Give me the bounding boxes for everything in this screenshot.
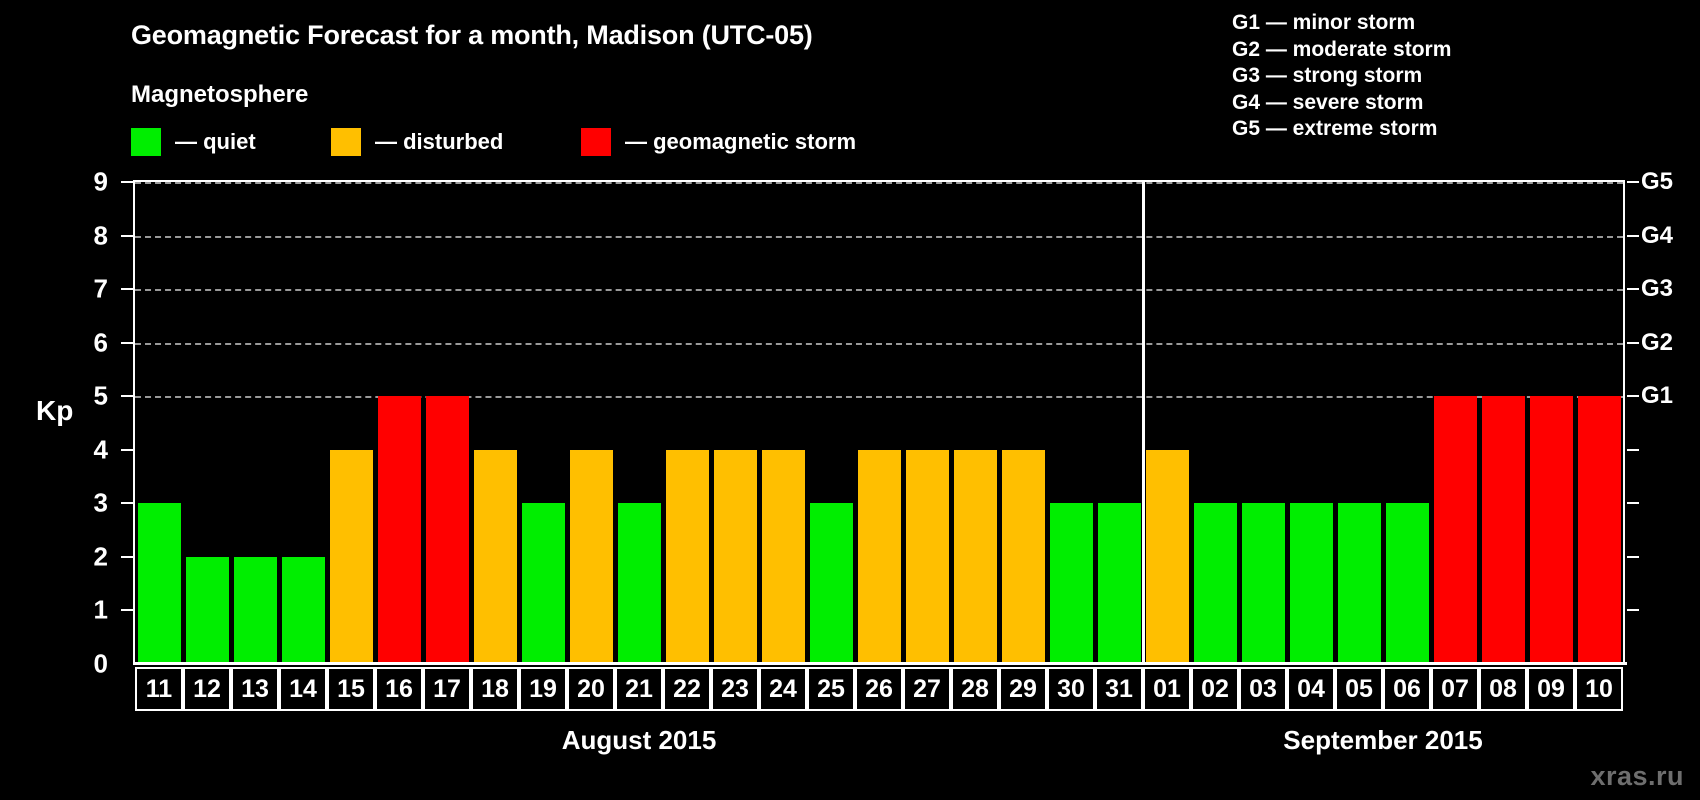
geomagnetic-forecast-chart: Geomagnetic Forecast for a month, Madiso…: [0, 0, 1700, 800]
gridline-kp-6: [135, 343, 1623, 345]
day-label-31[interactable]: 31: [1095, 667, 1143, 711]
storm-scale-line-g3: G3 — strong storm: [1232, 63, 1451, 90]
bar-day-02[interactable]: [1194, 503, 1237, 664]
day-label-24[interactable]: 24: [759, 667, 807, 711]
day-label-25[interactable]: 25: [807, 667, 855, 711]
day-label-29[interactable]: 29: [999, 667, 1047, 711]
bar-day-24[interactable]: [762, 450, 805, 664]
plot-area: [135, 182, 1623, 664]
y-tick-label-2: 2: [68, 541, 108, 572]
day-label-11[interactable]: 11: [135, 667, 183, 711]
day-label-07[interactable]: 07: [1431, 667, 1479, 711]
bar-day-31[interactable]: [1098, 503, 1141, 664]
day-label-30[interactable]: 30: [1047, 667, 1095, 711]
day-label-09[interactable]: 09: [1527, 667, 1575, 711]
bar-day-13[interactable]: [234, 557, 277, 664]
day-label-03[interactable]: 03: [1239, 667, 1287, 711]
bar-day-26[interactable]: [858, 450, 901, 664]
bar-day-10[interactable]: [1578, 396, 1621, 664]
day-label-10[interactable]: 10: [1575, 667, 1623, 711]
month-caption-september: September 2015: [1283, 725, 1482, 756]
gridline-kp-7: [135, 289, 1623, 291]
g-tick-label-g1: G1: [1641, 382, 1673, 410]
y-tick-mark-7: [121, 288, 133, 290]
g-tick-mark-g2: [1627, 342, 1639, 344]
legend-item-geomagnetic-storm: — geomagnetic storm: [581, 127, 856, 157]
watermark: xras.ru: [1590, 761, 1684, 792]
g-tick-label-g3: G3: [1641, 275, 1673, 303]
orange-square-icon: [331, 128, 361, 156]
legend-item-quiet: — quiet: [131, 127, 256, 157]
bar-day-14[interactable]: [282, 557, 325, 664]
legend-label: — quiet: [175, 129, 256, 155]
red-square-icon: [581, 128, 611, 156]
g-minor-tick-mark-2: [1627, 556, 1639, 558]
g-tick-label-g2: G2: [1641, 329, 1673, 357]
y-tick-label-6: 6: [68, 327, 108, 358]
bar-day-22[interactable]: [666, 450, 709, 664]
bar-day-06[interactable]: [1386, 503, 1429, 664]
legend-label: — disturbed: [375, 129, 503, 155]
y-tick-mark-5: [121, 395, 133, 397]
storm-scale-line-g2: G2 — moderate storm: [1232, 37, 1451, 64]
y-tick-label-4: 4: [68, 434, 108, 465]
y-tick-mark-6: [121, 342, 133, 344]
day-label-12[interactable]: 12: [183, 667, 231, 711]
bar-day-23[interactable]: [714, 450, 757, 664]
bar-day-09[interactable]: [1530, 396, 1573, 664]
day-label-27[interactable]: 27: [903, 667, 951, 711]
bar-day-12[interactable]: [186, 557, 229, 664]
day-label-28[interactable]: 28: [951, 667, 999, 711]
day-label-02[interactable]: 02: [1191, 667, 1239, 711]
storm-scale-line-g1: G1 — minor storm: [1232, 10, 1451, 37]
storm-scale-key: G1 — minor stormG2 — moderate stormG3 — …: [1232, 10, 1451, 143]
bar-day-15[interactable]: [330, 450, 373, 664]
y-tick-label-9: 9: [68, 167, 108, 198]
y-tick-label-1: 1: [68, 595, 108, 626]
day-label-17[interactable]: 17: [423, 667, 471, 711]
bar-day-01[interactable]: [1146, 450, 1189, 664]
bar-day-07[interactable]: [1434, 396, 1477, 664]
storm-scale-line-g4: G4 — severe storm: [1232, 90, 1451, 117]
green-square-icon: [131, 128, 161, 156]
y-tick-label-3: 3: [68, 488, 108, 519]
g-tick-mark-g4: [1627, 235, 1639, 237]
month-caption-august: August 2015: [562, 725, 717, 756]
day-label-06[interactable]: 06: [1383, 667, 1431, 711]
day-label-26[interactable]: 26: [855, 667, 903, 711]
bar-day-08[interactable]: [1482, 396, 1525, 664]
bar-day-03[interactable]: [1242, 503, 1285, 664]
day-label-22[interactable]: 22: [663, 667, 711, 711]
bar-day-16[interactable]: [378, 396, 421, 664]
day-label-14[interactable]: 14: [279, 667, 327, 711]
day-label-21[interactable]: 21: [615, 667, 663, 711]
y-tick-label-8: 8: [68, 220, 108, 251]
bar-day-20[interactable]: [570, 450, 613, 664]
gridline-kp-8: [135, 236, 1623, 238]
day-label-08[interactable]: 08: [1479, 667, 1527, 711]
storm-scale-line-g5: G5 — extreme storm: [1232, 116, 1451, 143]
bar-day-30[interactable]: [1050, 503, 1093, 664]
y-tick-label-7: 7: [68, 274, 108, 305]
bar-day-29[interactable]: [1002, 450, 1045, 664]
g-tick-mark-g1: [1627, 395, 1639, 397]
day-label-18[interactable]: 18: [471, 667, 519, 711]
month-divider: [1142, 180, 1145, 664]
day-label-23[interactable]: 23: [711, 667, 759, 711]
day-label-15[interactable]: 15: [327, 667, 375, 711]
y-tick-mark-3: [121, 502, 133, 504]
g-tick-mark-g3: [1627, 288, 1639, 290]
y-tick-mark-2: [121, 556, 133, 558]
bar-day-25[interactable]: [810, 503, 853, 664]
y-tick-mark-8: [121, 235, 133, 237]
gridline-kp-9: [135, 182, 1623, 184]
bar-day-28[interactable]: [954, 450, 997, 664]
g-tick-label-g4: G4: [1641, 222, 1673, 250]
y-tick-mark-4: [121, 449, 133, 451]
x-axis-baseline: [133, 662, 1627, 665]
page-title: Geomagnetic Forecast for a month, Madiso…: [131, 20, 813, 51]
bar-day-11[interactable]: [138, 503, 181, 664]
g-tick-label-g5: G5: [1641, 168, 1673, 196]
day-label-05[interactable]: 05: [1335, 667, 1383, 711]
bar-day-17[interactable]: [426, 396, 469, 664]
day-label-04[interactable]: 04: [1287, 667, 1335, 711]
y-tick-mark-1: [121, 609, 133, 611]
bar-day-05[interactable]: [1338, 503, 1381, 664]
y-tick-label-5: 5: [68, 381, 108, 412]
g-minor-tick-mark-1: [1627, 609, 1639, 611]
day-label-01[interactable]: 01: [1143, 667, 1191, 711]
bar-day-19[interactable]: [522, 503, 565, 664]
bar-day-04[interactable]: [1290, 503, 1333, 664]
day-label-19[interactable]: 19: [519, 667, 567, 711]
bar-day-21[interactable]: [618, 503, 661, 664]
legend-label: — geomagnetic storm: [625, 129, 856, 155]
g-minor-tick-mark-4: [1627, 449, 1639, 451]
day-label-20[interactable]: 20: [567, 667, 615, 711]
legend-item-disturbed: — disturbed: [331, 127, 503, 157]
y-tick-mark-9: [121, 181, 133, 183]
y-tick-label-0: 0: [68, 649, 108, 680]
g-tick-mark-g5: [1627, 181, 1639, 183]
g-minor-tick-mark-3: [1627, 502, 1639, 504]
day-label-13[interactable]: 13: [231, 667, 279, 711]
magnetosphere-subtitle: Magnetosphere: [131, 81, 308, 109]
day-label-16[interactable]: 16: [375, 667, 423, 711]
gridline-kp-5: [135, 396, 1623, 398]
bar-day-27[interactable]: [906, 450, 949, 664]
bar-day-18[interactable]: [474, 450, 517, 664]
